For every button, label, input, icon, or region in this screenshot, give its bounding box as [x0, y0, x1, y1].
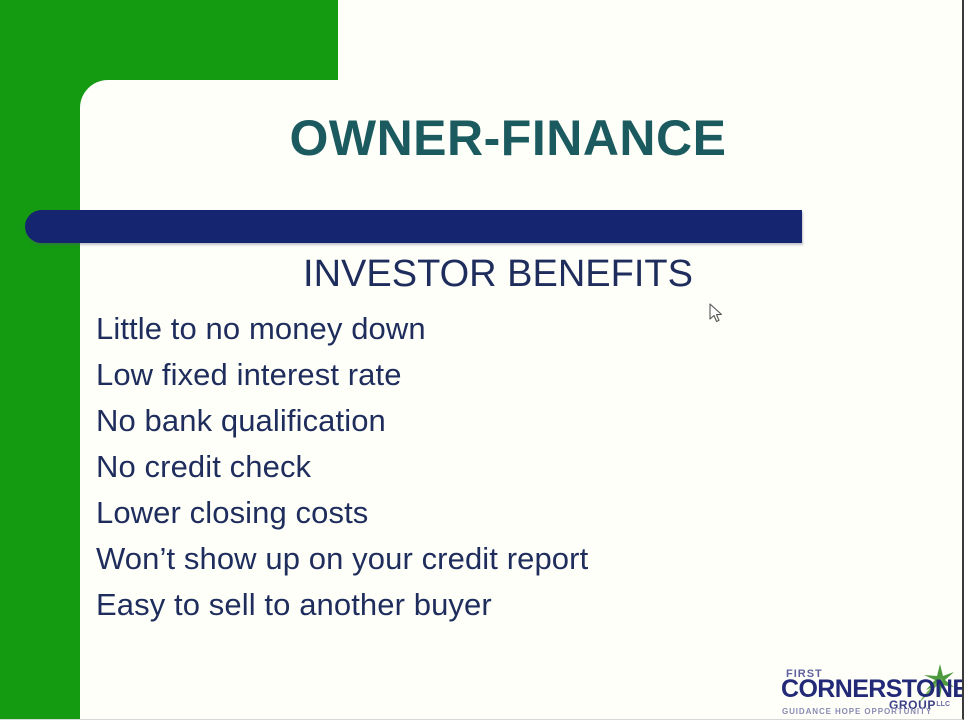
green-left-band [0, 0, 80, 720]
list-item: Little to no money down [96, 306, 876, 352]
list-item: No credit check [96, 444, 876, 490]
presentation-slide: OWNER-FINANCE INVESTOR BENEFITS Little t… [0, 0, 964, 720]
list-item: Lower closing costs [96, 490, 876, 536]
list-item: No bank qualification [96, 398, 876, 444]
list-item: Easy to sell to another buyer [96, 582, 876, 628]
green-top-band [0, 0, 338, 80]
logo-tagline: GUIDANCE HOPE OPPORTUNITY [782, 707, 932, 716]
logo-llc-text: LLC [936, 701, 950, 708]
navy-divider-bar [25, 210, 802, 243]
benefits-list: Little to no money down Low fixed intere… [96, 306, 876, 628]
mouse-pointer-icon [709, 303, 725, 325]
slide-title: OWNER-FINANCE [108, 112, 908, 165]
list-item: Won’t show up on your credit report [96, 536, 876, 582]
list-item: Low fixed interest rate [96, 352, 876, 398]
company-logo: FIRST CORNERSTONE GROUP LLC GUIDANCE HOP… [778, 660, 958, 718]
green-inner-corner [80, 80, 108, 108]
slide-subtitle: INVESTOR BENEFITS [108, 254, 888, 296]
logo-main-text: CORNERSTONE [781, 677, 964, 702]
